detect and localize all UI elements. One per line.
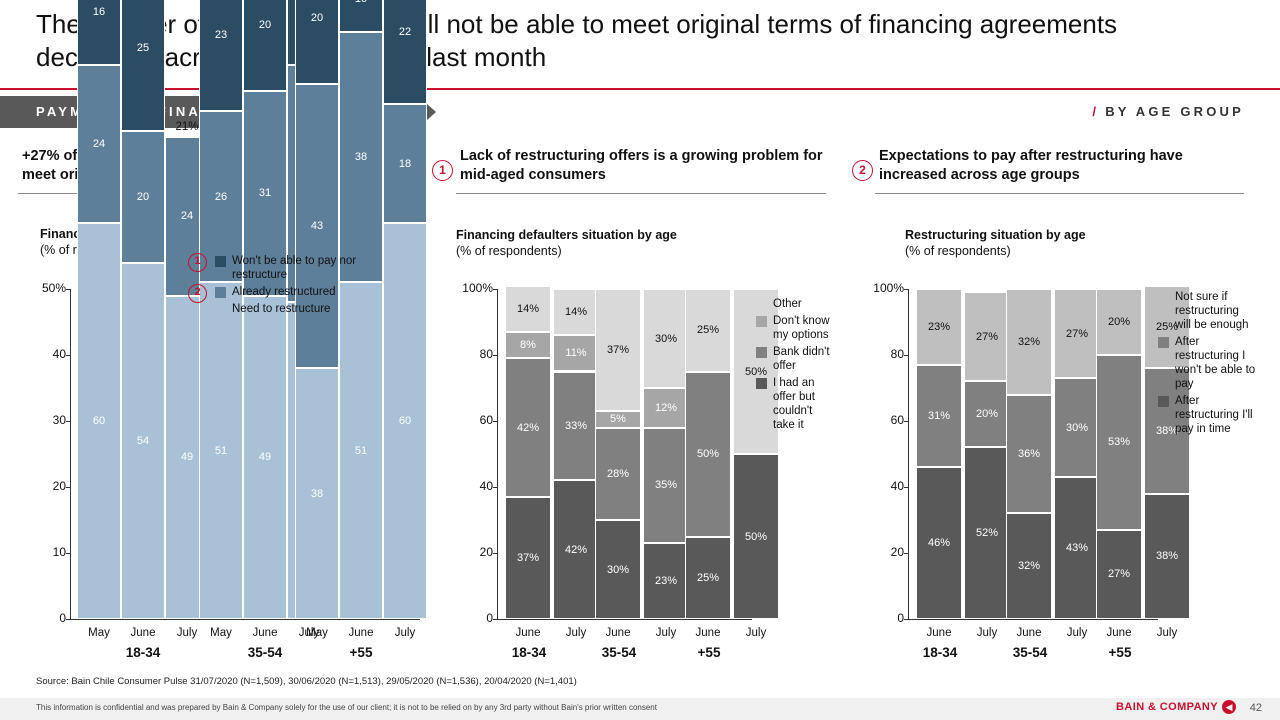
bar-segment: 36% bbox=[1006, 395, 1052, 514]
legend-item: After restructuring I'll pay in time bbox=[1158, 394, 1258, 436]
legend-swatch bbox=[1158, 396, 1169, 407]
bar-segment: 27% bbox=[1096, 530, 1142, 619]
bar-segment: 53% bbox=[1096, 355, 1142, 530]
bar-segment-label: 23% bbox=[917, 321, 961, 333]
bar-segment: 27% bbox=[964, 292, 1010, 381]
bar-segment-label: 32% bbox=[1007, 560, 1051, 572]
y-tick-label: 80 bbox=[862, 347, 904, 361]
y-tick bbox=[904, 421, 909, 422]
y-tick-label: 60 bbox=[862, 413, 904, 427]
confidentiality-note: This information is confidential and was… bbox=[36, 703, 657, 712]
y-axis bbox=[908, 289, 909, 620]
bar-segment-label: 38% bbox=[1145, 550, 1189, 562]
bar-segment-label: 30% bbox=[1055, 422, 1099, 434]
bar-segment-label: 53% bbox=[1097, 436, 1141, 448]
legend-item: Not sure if restructuring will be enough bbox=[1158, 290, 1258, 332]
bar-segment-label: 46% bbox=[917, 537, 961, 549]
bar-segment: 52% bbox=[964, 447, 1010, 619]
bar-segment-label: 32% bbox=[1007, 336, 1051, 348]
bar-segment: 30% bbox=[1054, 378, 1100, 477]
chart-3-legend: Not sure if restructuring will be enough… bbox=[1158, 290, 1258, 439]
x-axis-label: July bbox=[1135, 627, 1199, 639]
y-tick bbox=[904, 619, 909, 620]
source-note: Source: Bain Chile Consumer Pulse 31/07/… bbox=[36, 676, 577, 687]
bain-mark-icon: ◀ bbox=[1222, 700, 1236, 714]
group-label: 18-34 bbox=[895, 645, 985, 660]
bar-segment: 43% bbox=[1054, 477, 1100, 619]
bar-segment: 27% bbox=[1054, 289, 1100, 378]
legend-label: Not sure if restructuring will be enough bbox=[1175, 291, 1249, 331]
bar-segment: 32% bbox=[1006, 513, 1052, 619]
bar-segment-label: 27% bbox=[965, 331, 1009, 343]
group-label: 35-54 bbox=[985, 645, 1075, 660]
bar-segment-label: 20% bbox=[965, 408, 1009, 420]
bar-segment-label: 27% bbox=[1055, 328, 1099, 340]
y-tick bbox=[904, 487, 909, 488]
page-number: 42 bbox=[1250, 702, 1262, 714]
bar-segment: 20% bbox=[1096, 289, 1142, 355]
y-tick-label: 20 bbox=[862, 545, 904, 559]
legend-label: After restructuring I'll pay in time bbox=[1175, 395, 1253, 435]
y-tick-label: 100% bbox=[862, 281, 904, 295]
bar-segment-label: 20% bbox=[1097, 316, 1141, 328]
bar-segment: 20% bbox=[964, 381, 1010, 447]
bar-segment-label: 27% bbox=[1097, 568, 1141, 580]
bar-segment-label: 43% bbox=[1055, 542, 1099, 554]
legend-label: After restructuring I won't be able to p… bbox=[1175, 336, 1255, 390]
bar-segment-label: 52% bbox=[965, 527, 1009, 539]
group-label: +55 bbox=[1075, 645, 1165, 660]
legend-item: After restructuring I won't be able to p… bbox=[1158, 335, 1258, 391]
bar-segment-label: 31% bbox=[917, 410, 961, 422]
x-axis bbox=[908, 619, 1158, 620]
y-tick bbox=[904, 553, 909, 554]
bar-segment: 23% bbox=[916, 289, 962, 365]
y-tick-label: 40 bbox=[862, 479, 904, 493]
y-tick bbox=[904, 289, 909, 290]
bar-segment-label: 36% bbox=[1007, 448, 1051, 460]
bain-logo: BAIN & COMPANY bbox=[1116, 701, 1218, 713]
y-tick bbox=[904, 355, 909, 356]
legend-swatch bbox=[1158, 292, 1169, 303]
bar-segment: 38% bbox=[1144, 494, 1190, 619]
bar-segment: 32% bbox=[1006, 289, 1052, 395]
legend-swatch bbox=[1158, 337, 1169, 348]
bar-segment: 46% bbox=[916, 467, 962, 619]
y-tick-label: 0 bbox=[862, 611, 904, 625]
bar-segment: 31% bbox=[916, 365, 962, 467]
chart-restructuring-situation-by-age: 020406080100%46%31%23%June52%20%27%July3… bbox=[0, 0, 1280, 720]
